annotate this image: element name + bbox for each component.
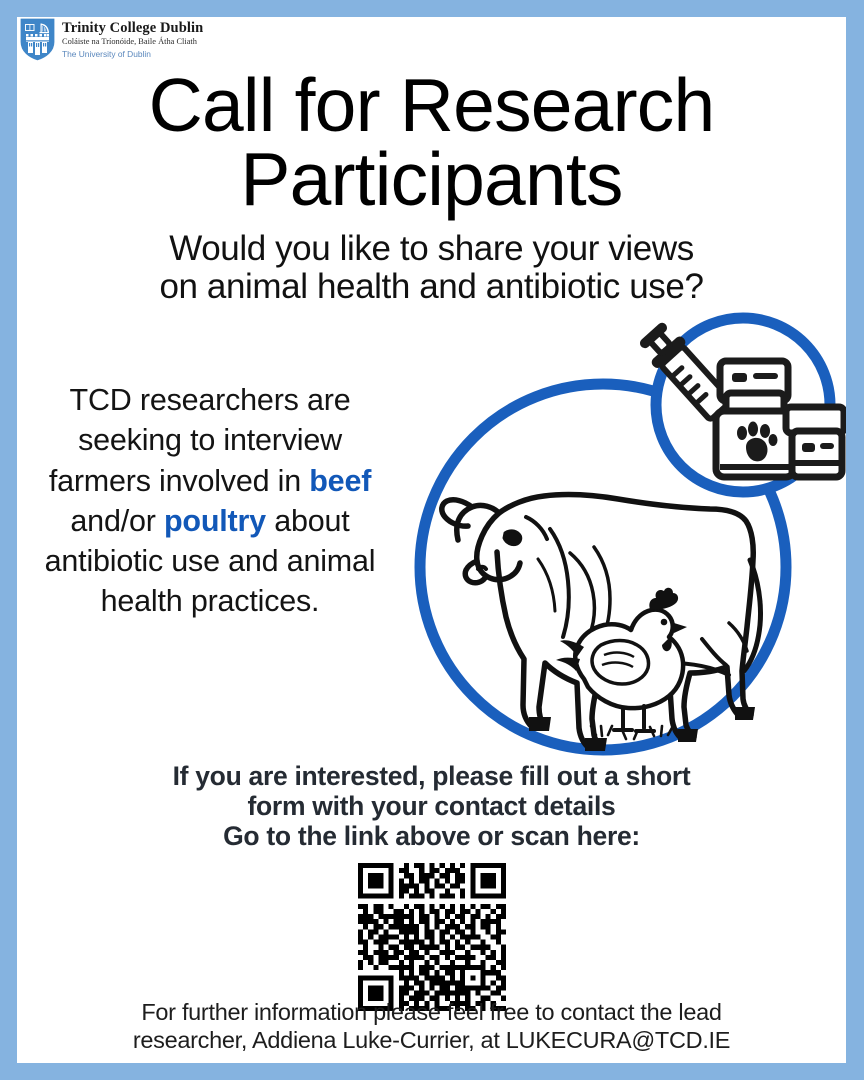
cta-line-3: Go to the link above or scan here:	[17, 822, 846, 852]
page-title: Call for Research Participants	[17, 69, 846, 216]
institution-logo: Trinity College Dublin Coláiste na Tríon…	[19, 17, 203, 62]
medicine-bottle-paw-icon	[716, 393, 794, 477]
logo-line-university: The University of Dublin	[62, 50, 203, 59]
call-to-action: If you are interested, please fill out a…	[17, 762, 846, 852]
body-highlight-beef: beef	[309, 464, 371, 498]
qr-code[interactable]	[358, 863, 506, 1011]
footer-line-2: researcher, Addiena Luke-Currier, at LUK…	[17, 1026, 846, 1055]
logo-line-english: Trinity College Dublin	[62, 20, 203, 36]
page-subtitle: Would you like to share your views on an…	[17, 230, 846, 306]
body-segment-2: and/or	[70, 504, 164, 538]
page-title-line-1: Call for Research	[17, 69, 846, 143]
page-subtitle-line-1: Would you like to share your views	[17, 230, 846, 268]
medicine-bottle-small-icon	[786, 407, 844, 477]
body-highlight-poultry: poultry	[164, 504, 266, 538]
page-title-line-2: Participants	[17, 143, 846, 217]
trinity-crest-icon	[19, 17, 56, 62]
body-segment-1: TCD researchers are seeking to interview…	[49, 383, 351, 498]
poster-page: Trinity College Dublin Coláiste na Tríon…	[17, 17, 846, 1063]
body-paragraph: TCD researchers are seeking to interview…	[35, 380, 385, 622]
qr-code-container	[17, 863, 846, 1011]
illustration	[398, 307, 846, 772]
footer-contact: For further information please feel free…	[17, 998, 846, 1055]
poster-border: Trinity College Dublin Coláiste na Tríon…	[0, 0, 864, 1080]
page-subtitle-line-2: on animal health and antibiotic use?	[17, 268, 846, 306]
logo-wordmark: Trinity College Dublin Coláiste na Tríon…	[62, 20, 203, 59]
cta-line-2: form with your contact details	[17, 792, 846, 822]
footer-line-1: For further information please feel free…	[17, 998, 846, 1027]
logo-line-irish: Coláiste na Tríonóide, Baile Átha Cliath	[62, 37, 203, 46]
cta-line-1: If you are interested, please fill out a…	[17, 762, 846, 792]
